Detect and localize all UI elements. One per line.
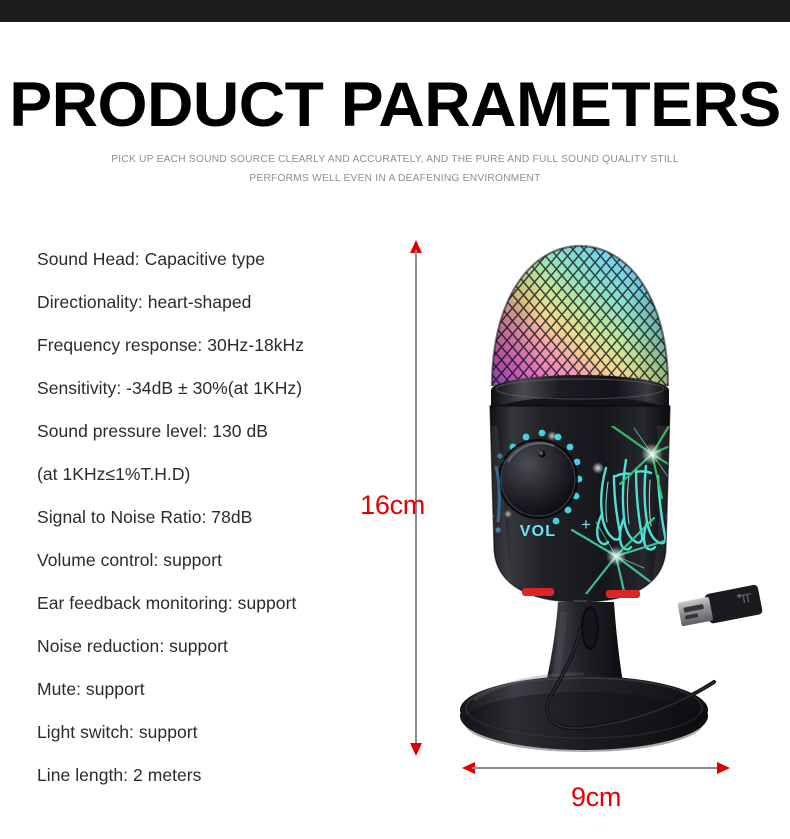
spec-item: Signal to Noise Ratio: 78dB [37,496,387,539]
spec-item: Sound Head: Capacitive type [37,238,387,281]
microphone-body: VOL + − [485,406,692,602]
volume-knob [498,439,578,519]
microphone-product-image: VOL + − [430,230,770,760]
top-black-bar [0,0,790,22]
arrow-head-right-icon [717,762,730,774]
spec-item: Directionality: heart-shaped [37,281,387,324]
page-subtitle: PICK UP EACH SOUND SOURCE CLEARLY AND AC… [104,150,686,188]
arrow-stem [472,767,720,769]
spec-item: Noise reduction: support [37,625,387,668]
stand-base [460,674,708,752]
spec-item: Sound pressure level: 130 dB [37,410,387,453]
width-dimension-arrow [462,762,730,774]
height-dimension-label: 16cm [355,490,425,521]
spec-item: Ear feedback monitoring: support [37,582,387,625]
product-parameters-page: PRODUCT PARAMETERS PICK UP EACH SOUND SO… [0,0,790,839]
usb-connector [677,584,763,629]
page-title: PRODUCT PARAMETERS [0,72,790,138]
volume-knob-label: VOL [520,523,557,540]
volume-minus-label: + [581,515,591,534]
spec-item: Sensitivity: -34dB ± 30%(at 1KHz) [37,367,387,410]
spec-item: Line length: 2 meters [37,754,387,797]
specifications-list: Sound Head: Capacitive type Directionali… [37,238,387,797]
arrow-head-down-icon [410,743,422,756]
spec-item: Mute: support [37,668,387,711]
spec-item: Volume control: support [37,539,387,582]
spec-item: Light switch: support [37,711,387,754]
width-dimension-label: 9cm [462,782,730,813]
spec-item: Frequency response: 30Hz-18kHz [37,324,387,367]
spec-item: (at 1KHz≤1%T.H.D) [37,453,387,496]
